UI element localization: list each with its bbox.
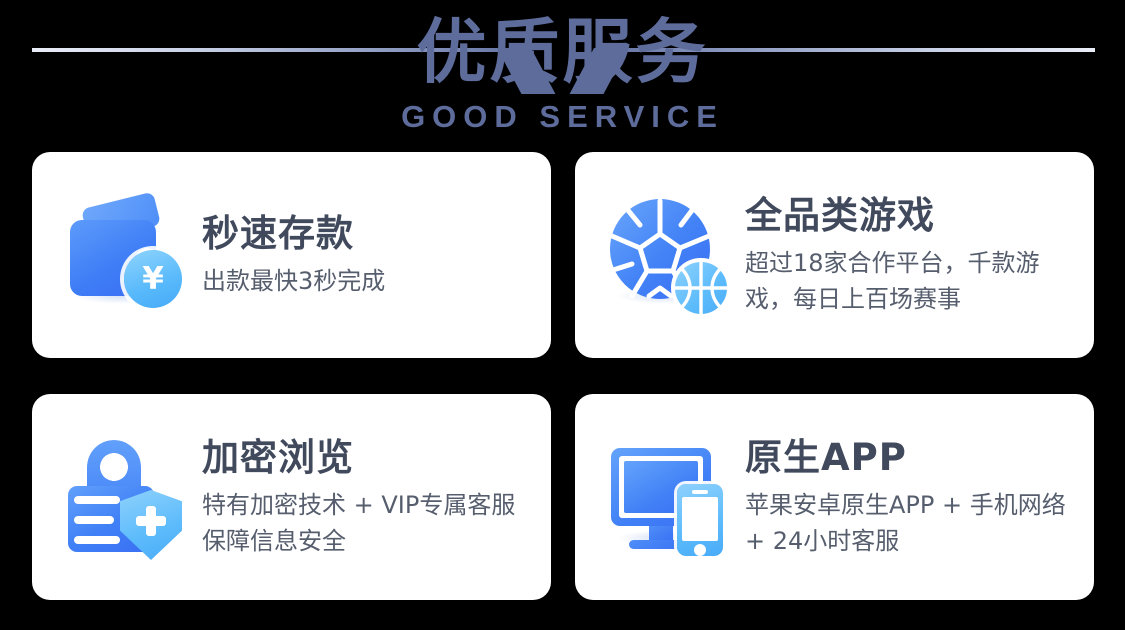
card-description: 苹果安卓原生APP + 手机网络 + 24小时客服 [745, 487, 1068, 559]
balls-svg [605, 192, 731, 318]
soccer-basketball-icon [605, 192, 731, 318]
yen-symbol: ¥ [142, 264, 164, 295]
monitor-phone-icon [605, 434, 731, 560]
lock-slot-3 [74, 536, 120, 544]
feature-card-deposit[interactable]: ¥ 秒速存款 出款最快3秒完成 [32, 152, 551, 358]
lock-shield-icon [62, 434, 188, 560]
lock-slot-1 [74, 496, 120, 504]
phone-screen [682, 497, 718, 541]
cross-icon [136, 506, 166, 536]
yen-coin-icon: ¥ [124, 250, 182, 308]
card-title: 加密浏览 [202, 435, 525, 481]
banner-header: 优质服务 GOOD SERVICE [0, 0, 1125, 146]
feature-card-native-app[interactable]: 原生APP 苹果安卓原生APP + 手机网络 + 24小时客服 [575, 394, 1094, 600]
card-description: 超过18家合作平台，千款游戏，每日上百场赛事 [745, 245, 1068, 317]
card-title: 全品类游戏 [745, 193, 1068, 239]
card-text-block: 原生APP 苹果安卓原生APP + 手机网络 + 24小时客服 [745, 435, 1068, 559]
page-title-cn: 优质服务 [0, 6, 1125, 98]
phone-speaker [692, 490, 708, 494]
title-block: 优质服务 GOOD SERVICE [0, 0, 1125, 136]
card-title: 原生APP [745, 435, 1068, 481]
card-title: 秒速存款 [202, 211, 525, 257]
feature-card-encryption[interactable]: 加密浏览 特有加密技术 + VIP专属客服保障信息安全 [32, 394, 551, 600]
card-description: 出款最快3秒完成 [202, 263, 525, 299]
feature-card-games[interactable]: 全品类游戏 超过18家合作平台，千款游戏，每日上百场赛事 [575, 152, 1094, 358]
phone-icon [677, 484, 723, 556]
service-feature-banner: 优质服务 GOOD SERVICE ¥ 秒速存款 出款最快3秒完成 [0, 0, 1125, 630]
feature-card-grid: ¥ 秒速存款 出款最快3秒完成 [32, 152, 1094, 600]
page-subtitle-en: GOOD SERVICE [0, 98, 1125, 136]
card-text-block: 秒速存款 出款最快3秒完成 [202, 211, 525, 299]
card-description: 特有加密技术 + VIP专属客服保障信息安全 [202, 487, 525, 559]
card-text-block: 全品类游戏 超过18家合作平台，千款游戏，每日上百场赛事 [745, 193, 1068, 317]
phone-home-button [694, 544, 706, 556]
wallet-yen-icon: ¥ [62, 192, 188, 318]
lock-slot-2 [74, 516, 114, 524]
card-text-block: 加密浏览 特有加密技术 + VIP专属客服保障信息安全 [202, 435, 525, 559]
